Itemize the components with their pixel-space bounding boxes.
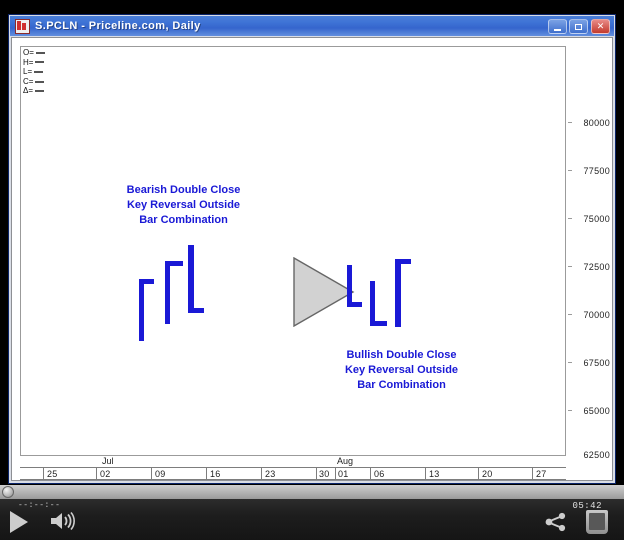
day-tick-label: 06 bbox=[374, 469, 385, 479]
day-tick-label: 23 bbox=[265, 469, 276, 479]
price-tick-label: 80000 bbox=[583, 118, 610, 128]
window-title: S.PCLN - Priceline.com, Daily bbox=[35, 20, 201, 32]
video-player: S.PCLN - Priceline.com, Daily ✕ O= H= L=… bbox=[0, 0, 624, 540]
price-bar-4-close-tick bbox=[347, 302, 362, 307]
price-tick-label: 72500 bbox=[583, 262, 610, 272]
day-tick-label: 20 bbox=[482, 469, 493, 479]
date-axis: Jul Aug 25 02 09 bbox=[20, 456, 566, 480]
price-bar-5-close-tick bbox=[370, 321, 387, 326]
annotation-bullish-line3: Bar Combination bbox=[309, 378, 494, 393]
day-tick-label: 27 bbox=[536, 469, 547, 479]
legend-delta: Δ= bbox=[23, 86, 45, 96]
price-bar-2-stem bbox=[165, 261, 170, 324]
price-tick-label: 77500 bbox=[583, 166, 610, 176]
price-tick-label: 65000 bbox=[583, 406, 610, 416]
price-tick-label: 62500 bbox=[583, 450, 610, 460]
annotation-bullish-line1: Bullish Double Close bbox=[309, 348, 494, 363]
progress-knob[interactable] bbox=[2, 486, 14, 498]
chart-body: O= H= L= C= Δ= Bearish Double Close Key … bbox=[11, 37, 613, 481]
fullscreen-button[interactable] bbox=[586, 510, 608, 534]
day-tick-label: 25 bbox=[47, 469, 58, 479]
day-tick-label: 13 bbox=[429, 469, 440, 479]
annotation-bullish: Bullish Double Close Key Reversal Outsid… bbox=[309, 348, 494, 393]
day-tick-label: 01 bbox=[338, 469, 349, 479]
day-label-row: 25 02 09 16 23 30 01 06 13 20 27 bbox=[20, 467, 566, 480]
play-button[interactable] bbox=[10, 511, 28, 533]
price-bar-4-stem bbox=[347, 265, 352, 307]
annotation-bearish-line1: Bearish Double Close bbox=[91, 183, 276, 198]
legend-high: H= bbox=[23, 58, 45, 68]
annotation-bullish-line2: Key Reversal Outside bbox=[309, 363, 494, 378]
elapsed-time: --:--:-- bbox=[18, 501, 60, 510]
price-bar-1-close-tick bbox=[139, 279, 154, 284]
day-tick-label: 16 bbox=[210, 469, 221, 479]
close-button[interactable]: ✕ bbox=[591, 19, 610, 34]
price-bar-3-close-tick bbox=[188, 308, 204, 313]
price-bar-5-stem bbox=[370, 281, 375, 326]
chart-window: S.PCLN - Priceline.com, Daily ✕ O= H= L=… bbox=[8, 14, 616, 484]
close-icon: ✕ bbox=[592, 20, 609, 33]
volume-icon[interactable] bbox=[50, 512, 80, 530]
price-axis: 80000 77500 75000 72500 70000 67500 6500… bbox=[568, 46, 612, 456]
month-label-aug: Aug bbox=[337, 456, 353, 466]
legend-open: O= bbox=[23, 48, 45, 58]
price-bar-2-close-tick bbox=[165, 261, 183, 266]
day-tick-label: 02 bbox=[100, 469, 111, 479]
price-tick-label: 70000 bbox=[583, 310, 610, 320]
ohlc-legend: O= H= L= C= Δ= bbox=[23, 48, 45, 96]
window-titlebar[interactable]: S.PCLN - Priceline.com, Daily ✕ bbox=[10, 16, 614, 36]
legend-low: L= bbox=[23, 67, 45, 77]
maximize-button[interactable] bbox=[569, 19, 588, 34]
chart-app-icon bbox=[15, 19, 30, 34]
pointer-triangle bbox=[293, 257, 355, 327]
price-bar-1-stem bbox=[139, 279, 144, 341]
minimize-icon bbox=[549, 20, 566, 33]
legend-close: C= bbox=[23, 77, 45, 87]
annotation-bearish-line2: Key Reversal Outside bbox=[91, 198, 276, 213]
share-icon[interactable] bbox=[545, 512, 567, 532]
day-tick-label: 09 bbox=[155, 469, 166, 479]
player-controls: --:--:-- 05:42 bbox=[0, 499, 624, 540]
price-bar-6-stem bbox=[395, 259, 401, 327]
price-tick-label: 75000 bbox=[583, 214, 610, 224]
day-tick-label: 30 bbox=[319, 469, 330, 479]
annotation-bearish-line3: Bar Combination bbox=[91, 213, 276, 228]
price-tick-label: 67500 bbox=[583, 358, 610, 368]
minimize-button[interactable] bbox=[548, 19, 567, 34]
maximize-icon bbox=[570, 20, 587, 33]
price-bar-6-close-tick bbox=[395, 259, 411, 264]
price-bar-3-stem bbox=[188, 245, 194, 313]
progress-bar[interactable] bbox=[0, 485, 624, 499]
annotation-bearish: Bearish Double Close Key Reversal Outsid… bbox=[91, 183, 276, 228]
month-label-jul: Jul bbox=[102, 456, 114, 466]
chart-plot-area[interactable]: O= H= L= C= Δ= Bearish Double Close Key … bbox=[20, 46, 566, 456]
